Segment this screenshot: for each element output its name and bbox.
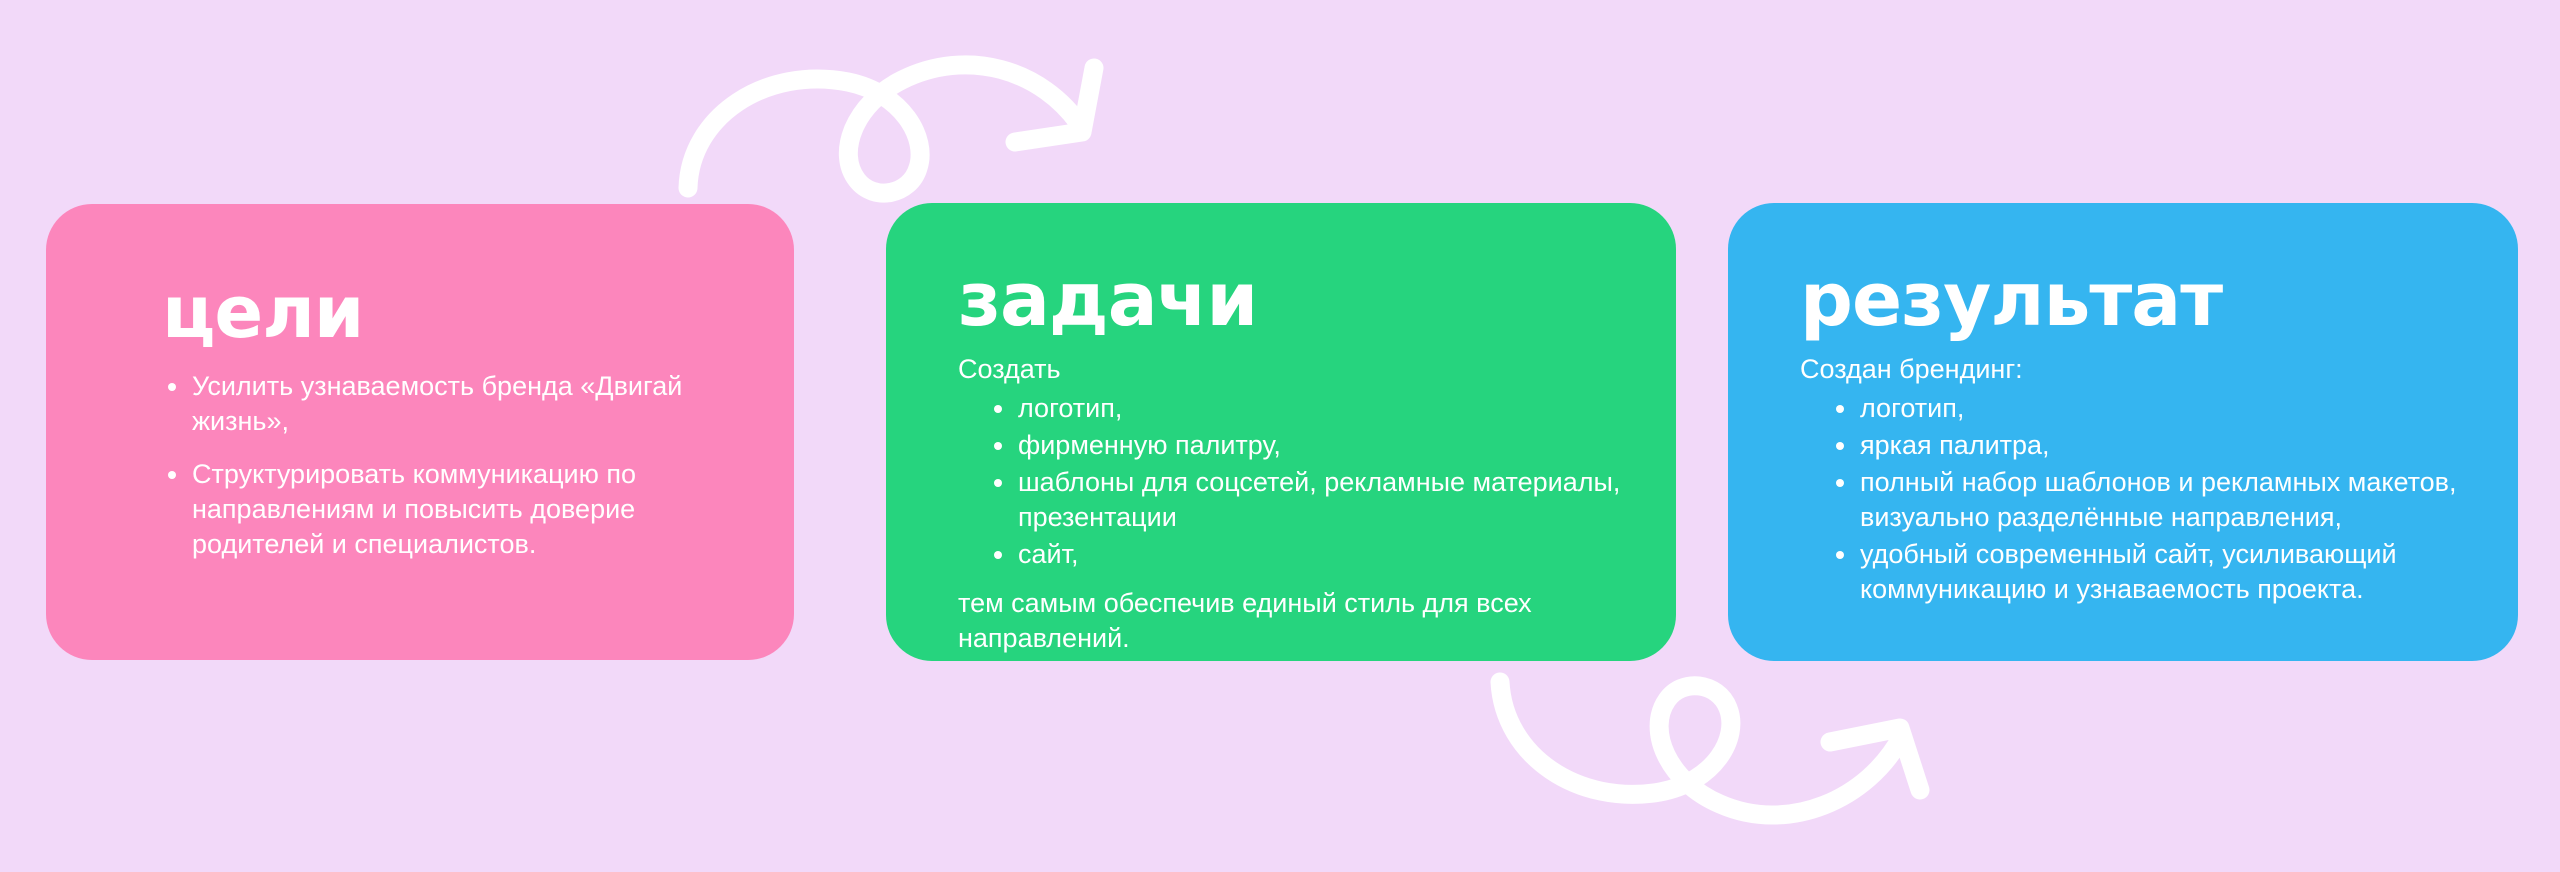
list-item: Структурировать коммуникацию по направле… (160, 457, 730, 562)
cards-row: цели Усилить узнаваемость бренда «Двигай… (0, 0, 2560, 872)
slide-canvas: цели Усилить узнаваемость бренда «Двигай… (0, 0, 2560, 872)
card-tasks-title: задачи (958, 265, 1626, 336)
card-goals-title: цели (162, 278, 730, 347)
card-goals: цели Усилить узнаваемость бренда «Двигай… (46, 204, 794, 660)
card-tasks: задачи Создать логотип, фирменную палитр… (886, 203, 1676, 661)
card-goals-bullet-list: Усилить узнаваемость бренда «Двигай жизн… (160, 369, 730, 562)
card-tasks-bullet-list: логотип, фирменную палитру, шаблоны для … (986, 391, 1626, 572)
list-item: полный набор шаблонов и рекламных макето… (1828, 465, 2472, 535)
list-item: Усилить узнаваемость бренда «Двигай жизн… (160, 369, 730, 439)
list-item: сайт, (986, 537, 1626, 572)
list-item: логотип, (1828, 391, 2472, 426)
list-item: яркая палитра, (1828, 428, 2472, 463)
list-item: логотип, (986, 391, 1626, 426)
card-tasks-lead: Создать (958, 352, 1626, 387)
list-item: удобный современный сайт, усиливающий ко… (1828, 537, 2472, 607)
list-item: фирменную палитру, (986, 428, 1626, 463)
card-result-bullet-list: логотип, яркая палитра, полный набор шаб… (1828, 391, 2472, 608)
card-result: результат Создан брендинг: логотип, ярка… (1728, 203, 2518, 661)
card-result-lead: Создан брендинг: (1800, 352, 2472, 387)
card-result-title: результат (1800, 265, 2472, 336)
card-tasks-outro: тем самым обеспечив единый стиль для все… (958, 586, 1626, 656)
list-item: шаблоны для соцсетей, рекламные материал… (986, 465, 1626, 535)
